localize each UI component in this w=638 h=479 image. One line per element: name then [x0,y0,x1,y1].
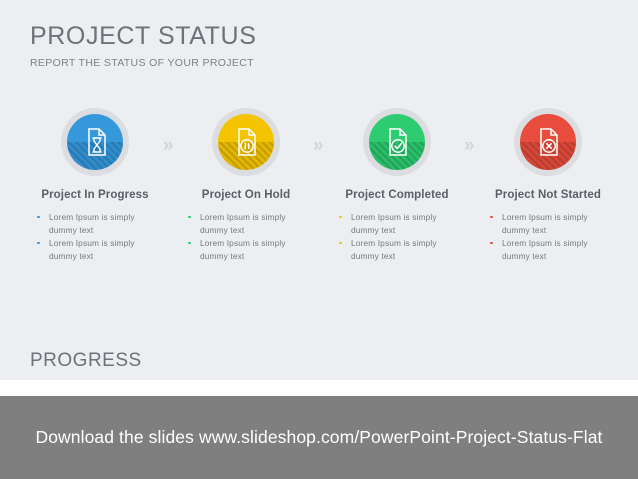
step-bullet-list: Lorem Ipsum is simply dummy text Lorem I… [35,211,155,263]
list-item: Lorem Ipsum is simply dummy text [488,211,608,236]
page-subtitle: REPORT THE STATUS OF YOUR PROJECT [30,57,254,69]
footer-bar: Download the slides www.slideshop.com/Po… [0,396,638,479]
status-icon-disc [369,114,425,170]
bullet-text: Lorem Ipsum is simply dummy text [200,212,286,235]
bullet-dot [37,216,40,219]
step-bullet-list: Lorem Ipsum is simply dummy text Lorem I… [488,211,608,263]
bullet-dot [188,242,191,245]
bullet-dot [339,216,342,219]
list-item: Lorem Ipsum is simply dummy text [488,237,608,262]
bullet-text: Lorem Ipsum is simply dummy text [351,238,437,261]
list-item: Lorem Ipsum is simply dummy text [186,237,306,262]
status-icon-disc [67,114,123,170]
page-title: PROJECT STATUS [30,22,256,51]
bullet-dot [37,242,40,245]
bullet-dot [490,242,493,245]
status-step-completed[interactable]: Project Completed Lorem Ipsum is simply … [321,103,473,264]
status-icon-ring [514,108,582,176]
status-icon-ring [212,108,280,176]
status-step-in-progress[interactable]: Project In Progress Lorem Ipsum is simpl… [19,103,171,264]
list-item: Lorem Ipsum is simply dummy text [337,237,457,262]
bullet-text: Lorem Ipsum is simply dummy text [351,212,437,235]
white-divider-band [0,380,638,396]
bullet-dot [490,216,493,219]
step-separator-chevron-icon: » [464,135,472,157]
step-bullet-list: Lorem Ipsum is simply dummy text Lorem I… [337,211,457,263]
bullet-text: Lorem Ipsum is simply dummy text [200,238,286,261]
bullet-text: Lorem Ipsum is simply dummy text [502,238,588,261]
step-bullet-list: Lorem Ipsum is simply dummy text Lorem I… [186,211,306,263]
status-steps-row: Project In Progress Lorem Ipsum is simpl… [0,103,638,293]
list-item: Lorem Ipsum is simply dummy text [35,237,155,262]
document-hourglass-icon [82,127,108,157]
step-title: Project Completed [321,189,473,201]
bullet-text: Lorem Ipsum is simply dummy text [502,212,588,235]
bullet-text: Lorem Ipsum is simply dummy text [49,238,135,261]
bullet-dot [188,216,191,219]
status-icon-disc [218,114,274,170]
bullet-text: Lorem Ipsum is simply dummy text [49,212,135,235]
step-title: Project On Hold [170,189,322,201]
slide-canvas: PROJECT STATUS REPORT THE STATUS OF YOUR… [0,0,638,380]
status-step-not-started[interactable]: Project Not Started Lorem Ipsum is simpl… [472,103,624,264]
bullet-dot [339,242,342,245]
list-item: Lorem Ipsum is simply dummy text [186,211,306,236]
status-icon-disc [520,114,576,170]
list-item: Lorem Ipsum is simply dummy text [35,211,155,236]
step-title: Project In Progress [19,189,171,201]
status-icon-ring [61,108,129,176]
progress-section-heading: PROGRESS [30,350,142,372]
document-x-icon [535,127,561,157]
document-pause-icon [233,127,259,157]
step-separator-chevron-icon: » [313,135,321,157]
step-title: Project Not Started [472,189,624,201]
list-item: Lorem Ipsum is simply dummy text [337,211,457,236]
status-step-on-hold[interactable]: Project On Hold Lorem Ipsum is simply du… [170,103,322,264]
document-check-icon [384,127,410,157]
footer-download-text: Download the slides www.slideshop.com/Po… [35,427,602,448]
status-icon-ring [363,108,431,176]
